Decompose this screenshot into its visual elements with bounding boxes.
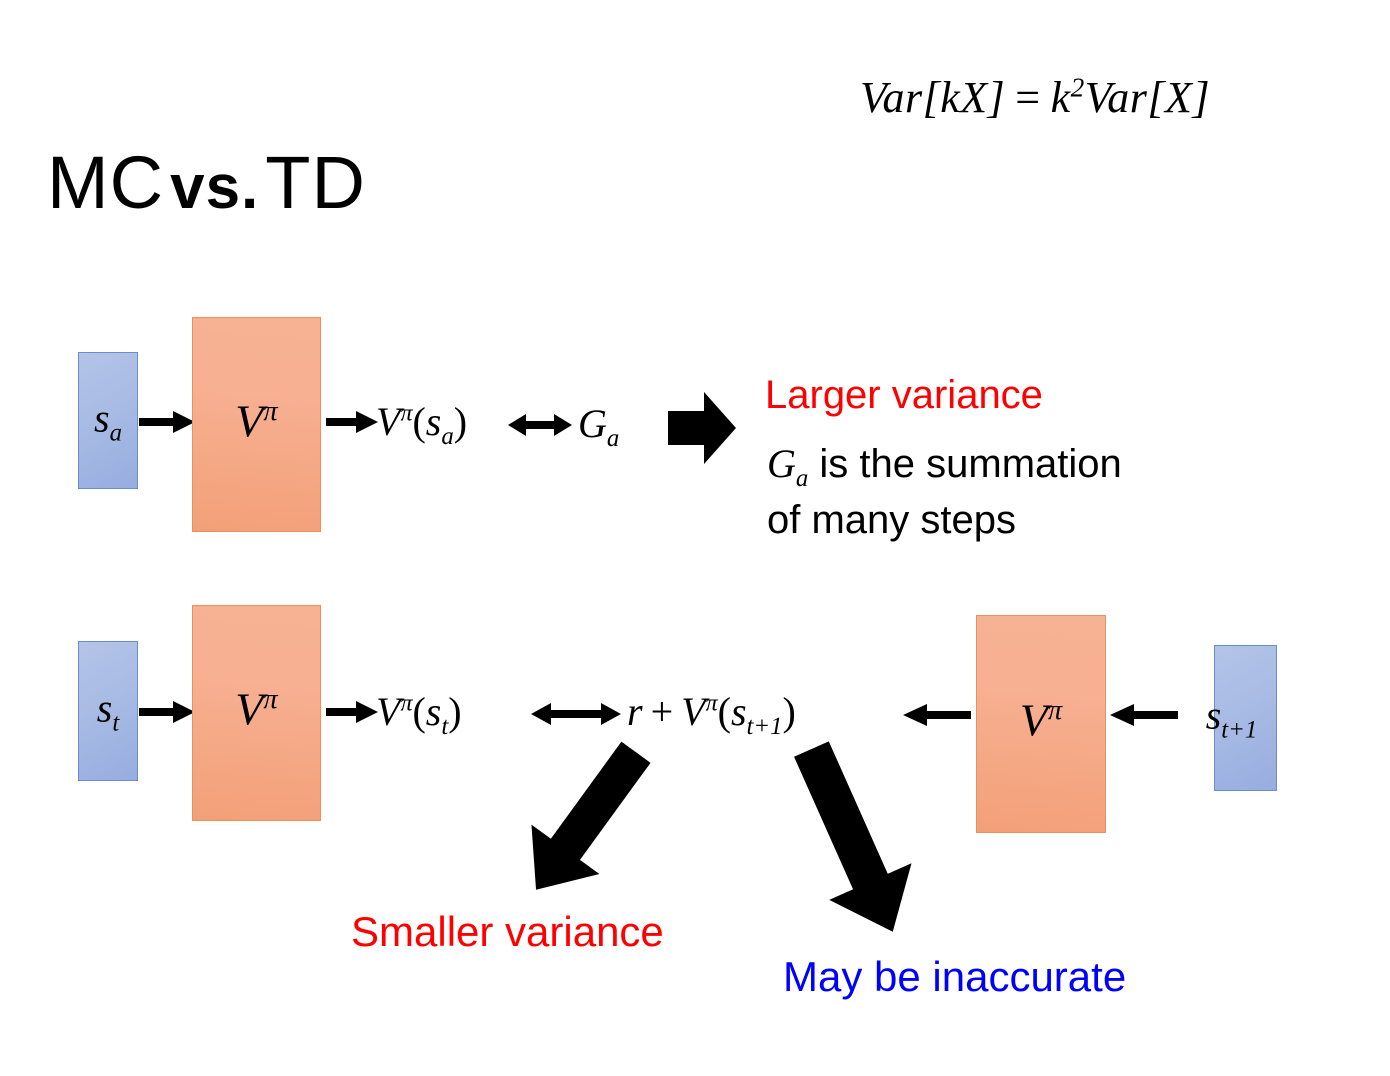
td-inaccuracy-block-arrow	[763, 740, 943, 940]
formula-lhs-k: k	[940, 73, 960, 122]
mc-value-function-label: Vπ	[193, 394, 320, 447]
mc-state-subscript: a	[110, 419, 122, 446]
mc-state-symbol: s	[94, 395, 110, 440]
mc-explanation-symbol-base: G	[767, 441, 796, 486]
td-state-symbol: s	[97, 686, 113, 731]
mc-variance-note: Larger variance	[765, 370, 1043, 421]
td-value-symbol: V	[235, 683, 263, 734]
td-bootstrap-target: r+Vπ(st+1)	[627, 688, 796, 741]
slide-canvas: Var[kX]=k2Var[X] MCvs.TD sa Vπ	[0, 0, 1390, 1076]
td-comparison-double-arrow	[531, 703, 621, 725]
td-estimate-v-superscript: π	[400, 691, 412, 717]
td-value-superscript: π	[263, 684, 277, 715]
mc-state-box-label: sa	[79, 394, 137, 447]
td-next-state-box[interactable]: st+1	[1214, 645, 1277, 791]
formula-rhs-x: X	[1165, 73, 1192, 122]
td-accuracy-note: May be inaccurate	[783, 950, 1126, 1004]
mc-value-estimate: Vπ(sa)	[376, 398, 467, 451]
mc-arrow-value-to-output	[326, 410, 378, 434]
mc-explanation-symbol-subscript: a	[796, 465, 808, 492]
formula-lhs-x: X	[960, 73, 987, 122]
td-next-value-symbol: V	[1020, 694, 1048, 745]
td-plus-operator: +	[643, 689, 682, 734]
td-next-state-symbol: s	[1206, 693, 1222, 738]
td-target-v-superscript: π	[706, 691, 718, 717]
formula-rhs-k: k	[1051, 73, 1071, 122]
formula-rhs-bracket-open: [	[1147, 73, 1165, 122]
mc-explanation-line-2: of many steps	[767, 495, 1016, 546]
td-reward-symbol: r	[627, 689, 643, 734]
td-next-value-function-label: Vπ	[977, 693, 1105, 746]
formula-lhs-bracket-open: [	[923, 73, 941, 122]
mc-explanation-text: is the summation	[808, 442, 1121, 486]
td-target-state-subscript: t+1	[747, 713, 783, 740]
mc-conclusion-block-arrow	[668, 392, 736, 464]
mc-return-symbol: G	[578, 401, 607, 446]
mc-estimate-paren-close: )	[454, 399, 467, 444]
mc-arrow-state-to-value	[139, 410, 195, 434]
mc-estimate-v: V	[376, 399, 400, 444]
td-target-paren-close: )	[783, 689, 796, 734]
formula-rhs-var: Var	[1085, 73, 1148, 122]
formula-rhs-exponent: 2	[1071, 72, 1085, 102]
page-title: MCvs.TD	[47, 140, 366, 225]
mc-state-box[interactable]: sa	[78, 352, 138, 489]
mc-explanation-line-1: Ga is the summation	[767, 438, 1122, 495]
td-next-state-box-label: st+1	[1187, 692, 1276, 745]
mc-value-function-box[interactable]: Vπ	[192, 317, 321, 532]
variance-scaling-formula: Var[kX]=k2Var[X]	[860, 72, 1210, 123]
td-arrow-state-to-value	[139, 700, 195, 724]
mc-return-subscript: a	[607, 425, 619, 452]
mc-estimate-v-superscript: π	[400, 401, 412, 427]
title-part-td: TD	[265, 141, 366, 224]
td-arrow-next-value-to-target	[903, 704, 971, 726]
td-arrow-value-to-output	[326, 700, 378, 724]
td-arrow-next-state-to-value	[1110, 704, 1178, 726]
td-variance-note: Smaller variance	[351, 905, 664, 959]
td-estimate-v: V	[376, 689, 400, 734]
formula-rhs-bracket-close: ]	[1192, 73, 1210, 122]
formula-equals: =	[1005, 73, 1050, 122]
td-next-value-superscript: π	[1048, 695, 1062, 726]
td-smaller-variance-block-arrow	[506, 736, 666, 906]
formula-lhs-bracket-close: ]	[988, 73, 1006, 122]
td-next-state-subscript: t+1	[1221, 717, 1257, 744]
formula-lhs-var: Var	[860, 73, 923, 122]
td-estimate-paren-close: )	[448, 689, 461, 734]
td-state-box-label: st	[79, 685, 137, 738]
mc-estimate-state: s	[426, 399, 442, 444]
td-value-estimate: Vπ(st)	[376, 688, 462, 741]
title-part-mc: MC	[47, 141, 164, 224]
mc-explanation-symbol: Ga	[767, 441, 808, 486]
mc-estimate-paren-open: (	[412, 399, 425, 444]
mc-value-superscript: π	[263, 395, 277, 426]
td-next-value-function-box[interactable]: Vπ	[976, 615, 1106, 833]
td-target-v: V	[681, 689, 705, 734]
td-value-function-label: Vπ	[193, 682, 320, 735]
td-target-state: s	[731, 689, 747, 734]
td-target-paren-open: (	[718, 689, 731, 734]
mc-comparison-double-arrow	[508, 414, 572, 436]
td-estimate-state: s	[426, 689, 442, 734]
mc-value-symbol: V	[235, 395, 263, 446]
td-estimate-paren-open: (	[412, 689, 425, 734]
mc-return-target: Ga	[578, 400, 619, 453]
td-state-subscript: t	[112, 710, 119, 737]
td-value-function-box[interactable]: Vπ	[192, 605, 321, 821]
mc-estimate-state-subscript: a	[441, 423, 453, 450]
title-part-vs: vs.	[164, 153, 265, 222]
td-state-box[interactable]: st	[78, 641, 138, 781]
